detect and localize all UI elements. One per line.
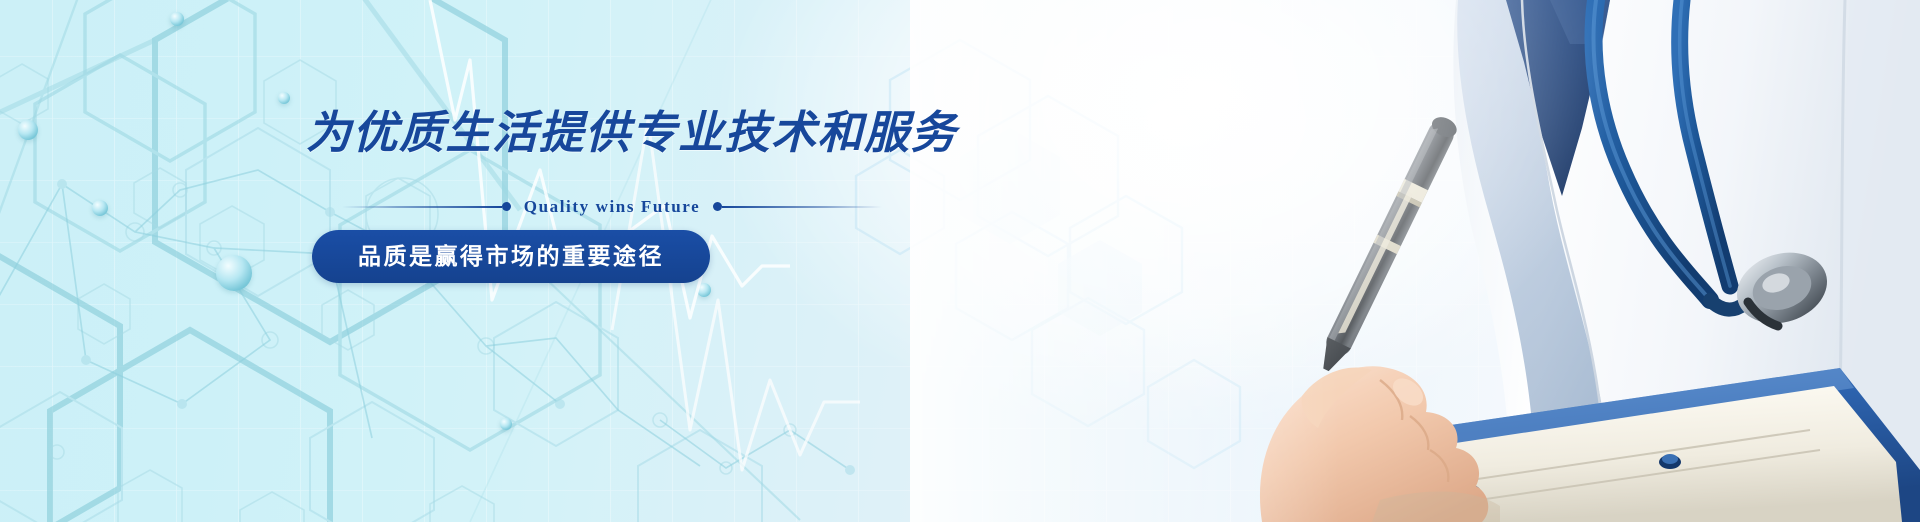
- slogan-pill-button[interactable]: 品质是赢得市场的重要途径: [312, 230, 710, 283]
- decor-sphere: [278, 92, 290, 104]
- hero-banner: 为优质生活提供专业技术和服务 Quality wins Future 品质是赢得…: [0, 0, 1920, 522]
- decor-sphere: [500, 418, 512, 430]
- doctor-photo: [910, 0, 1920, 522]
- decor-sphere: [170, 12, 184, 26]
- banner-copy-block: 为优质生活提供专业技术和服务 Quality wins Future 品质是赢得…: [300, 108, 1040, 283]
- decor-sphere: [92, 200, 108, 216]
- photo-highlight-glow: [910, 0, 1920, 522]
- decor-sphere: [18, 120, 38, 140]
- banner-tagline: Quality wins Future: [511, 197, 714, 217]
- tagline-divider: Quality wins Future: [342, 196, 882, 218]
- divider-rule-right: [722, 206, 882, 208]
- decor-sphere: [697, 283, 711, 297]
- decor-sphere: [216, 255, 252, 291]
- divider-rule-left: [342, 206, 502, 208]
- divider-dot-right-icon: [713, 202, 722, 211]
- banner-headline: 为优质生活提供专业技术和服务: [306, 108, 1040, 158]
- divider-dot-left-icon: [502, 202, 511, 211]
